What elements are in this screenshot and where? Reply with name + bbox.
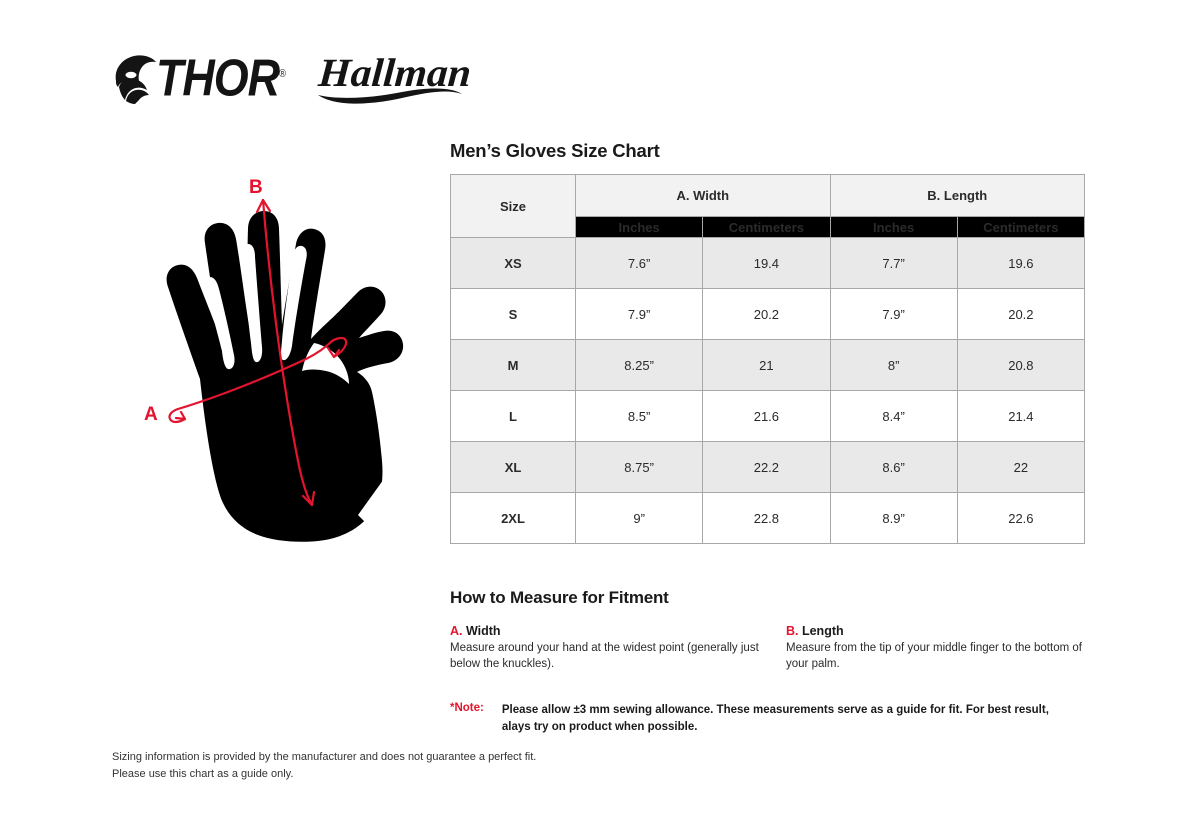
table-row: XL 8.75” 22.2 8.6” 22 bbox=[451, 442, 1085, 493]
header-size: Size bbox=[451, 175, 576, 238]
cell-length-centimeters: 22 bbox=[957, 442, 1084, 493]
measure-length-heading: B. Length bbox=[786, 624, 1106, 638]
measure-block-width: A. Width Measure around your hand at the… bbox=[450, 624, 770, 672]
cell-length-inches: 8.4” bbox=[830, 391, 957, 442]
table-row: S 7.9” 20.2 7.9” 20.2 bbox=[451, 289, 1085, 340]
thor-wordmark: THOR® bbox=[156, 53, 285, 105]
header-length-centimeters: Centimeters bbox=[957, 217, 1084, 238]
cell-width-centimeters: 21 bbox=[703, 340, 830, 391]
cell-width-inches: 9” bbox=[576, 493, 703, 544]
measure-length-body: Measure from the tip of your middle fing… bbox=[786, 641, 1106, 672]
cell-width-centimeters: 22.8 bbox=[703, 493, 830, 544]
measure-width-body: Measure around your hand at the widest p… bbox=[450, 641, 770, 672]
cell-length-inches: 7.9” bbox=[830, 289, 957, 340]
cell-size: S bbox=[451, 289, 576, 340]
cell-length-inches: 8” bbox=[830, 340, 957, 391]
measure-length-name: Length bbox=[799, 624, 844, 638]
size-chart-table: Size A. Width B. Length Inches Centimete… bbox=[450, 174, 1085, 544]
note-label: *Note: bbox=[450, 702, 484, 735]
brand-header: THOR® Hallman bbox=[112, 48, 472, 110]
note-row: *Note: Please allow ±3 mm sewing allowan… bbox=[450, 702, 1080, 735]
measure-length-letter: B. bbox=[786, 624, 799, 638]
thor-logo: THOR® bbox=[112, 50, 282, 108]
measure-block-length: B. Length Measure from the tip of your m… bbox=[786, 624, 1106, 672]
cell-width-inches: 7.9” bbox=[576, 289, 703, 340]
table-header-group-row: Size A. Width B. Length bbox=[451, 175, 1085, 217]
cell-size: XL bbox=[451, 442, 576, 493]
cell-width-inches: 7.6” bbox=[576, 238, 703, 289]
header-group-length: B. Length bbox=[830, 175, 1085, 217]
how-to-measure-title: How to Measure for Fitment bbox=[450, 588, 669, 608]
cell-length-inches: 8.9” bbox=[830, 493, 957, 544]
cell-length-inches: 8.6” bbox=[830, 442, 957, 493]
cell-width-centimeters: 21.6 bbox=[703, 391, 830, 442]
page-title: Men’s Gloves Size Chart bbox=[450, 140, 660, 162]
thor-helmet-icon bbox=[112, 54, 158, 104]
cell-size: 2XL bbox=[451, 493, 576, 544]
disclaimer-line-2: Please use this chart as a guide only. bbox=[112, 766, 536, 783]
header-width-centimeters: Centimeters bbox=[703, 217, 830, 238]
table-row: M 8.25” 21 8” 20.8 bbox=[451, 340, 1085, 391]
cell-width-centimeters: 22.2 bbox=[703, 442, 830, 493]
hallman-swash-icon bbox=[316, 81, 466, 107]
table-row: L 8.5” 21.6 8.4” 21.4 bbox=[451, 391, 1085, 442]
diagram-label-a: A bbox=[144, 404, 158, 425]
cell-width-inches: 8.75” bbox=[576, 442, 703, 493]
cell-size: M bbox=[451, 340, 576, 391]
cell-width-centimeters: 20.2 bbox=[703, 289, 830, 340]
table-row: XS 7.6” 19.4 7.7” 19.6 bbox=[451, 238, 1085, 289]
cell-width-inches: 8.25” bbox=[576, 340, 703, 391]
cell-length-centimeters: 20.8 bbox=[957, 340, 1084, 391]
cell-width-centimeters: 19.4 bbox=[703, 238, 830, 289]
disclaimer-line-1: Sizing information is provided by the ma… bbox=[112, 749, 536, 766]
header-length-inches: Inches bbox=[830, 217, 957, 238]
measure-width-name: Width bbox=[463, 624, 501, 638]
registered-mark: ® bbox=[279, 68, 285, 80]
note-text: Please allow ±3 mm sewing allowance. The… bbox=[502, 702, 1080, 735]
hand-silhouette bbox=[167, 211, 404, 542]
cell-length-centimeters: 22.6 bbox=[957, 493, 1084, 544]
header-group-width: A. Width bbox=[576, 175, 831, 217]
table-row: 2XL 9” 22.8 8.9” 22.6 bbox=[451, 493, 1085, 544]
disclaimer: Sizing information is provided by the ma… bbox=[112, 749, 536, 782]
cell-length-centimeters: 20.2 bbox=[957, 289, 1084, 340]
cell-length-centimeters: 21.4 bbox=[957, 391, 1084, 442]
diagram-label-b: B bbox=[249, 177, 263, 198]
hallman-logo: Hallman bbox=[320, 51, 462, 107]
cell-size: XS bbox=[451, 238, 576, 289]
measure-width-letter: A. bbox=[450, 624, 463, 638]
cell-length-centimeters: 19.6 bbox=[957, 238, 1084, 289]
cell-length-inches: 7.7” bbox=[830, 238, 957, 289]
cell-size: L bbox=[451, 391, 576, 442]
header-width-inches: Inches bbox=[576, 217, 703, 238]
cell-width-inches: 8.5” bbox=[576, 391, 703, 442]
measure-width-heading: A. Width bbox=[450, 624, 770, 638]
hand-measurement-diagram: B A bbox=[118, 165, 428, 550]
